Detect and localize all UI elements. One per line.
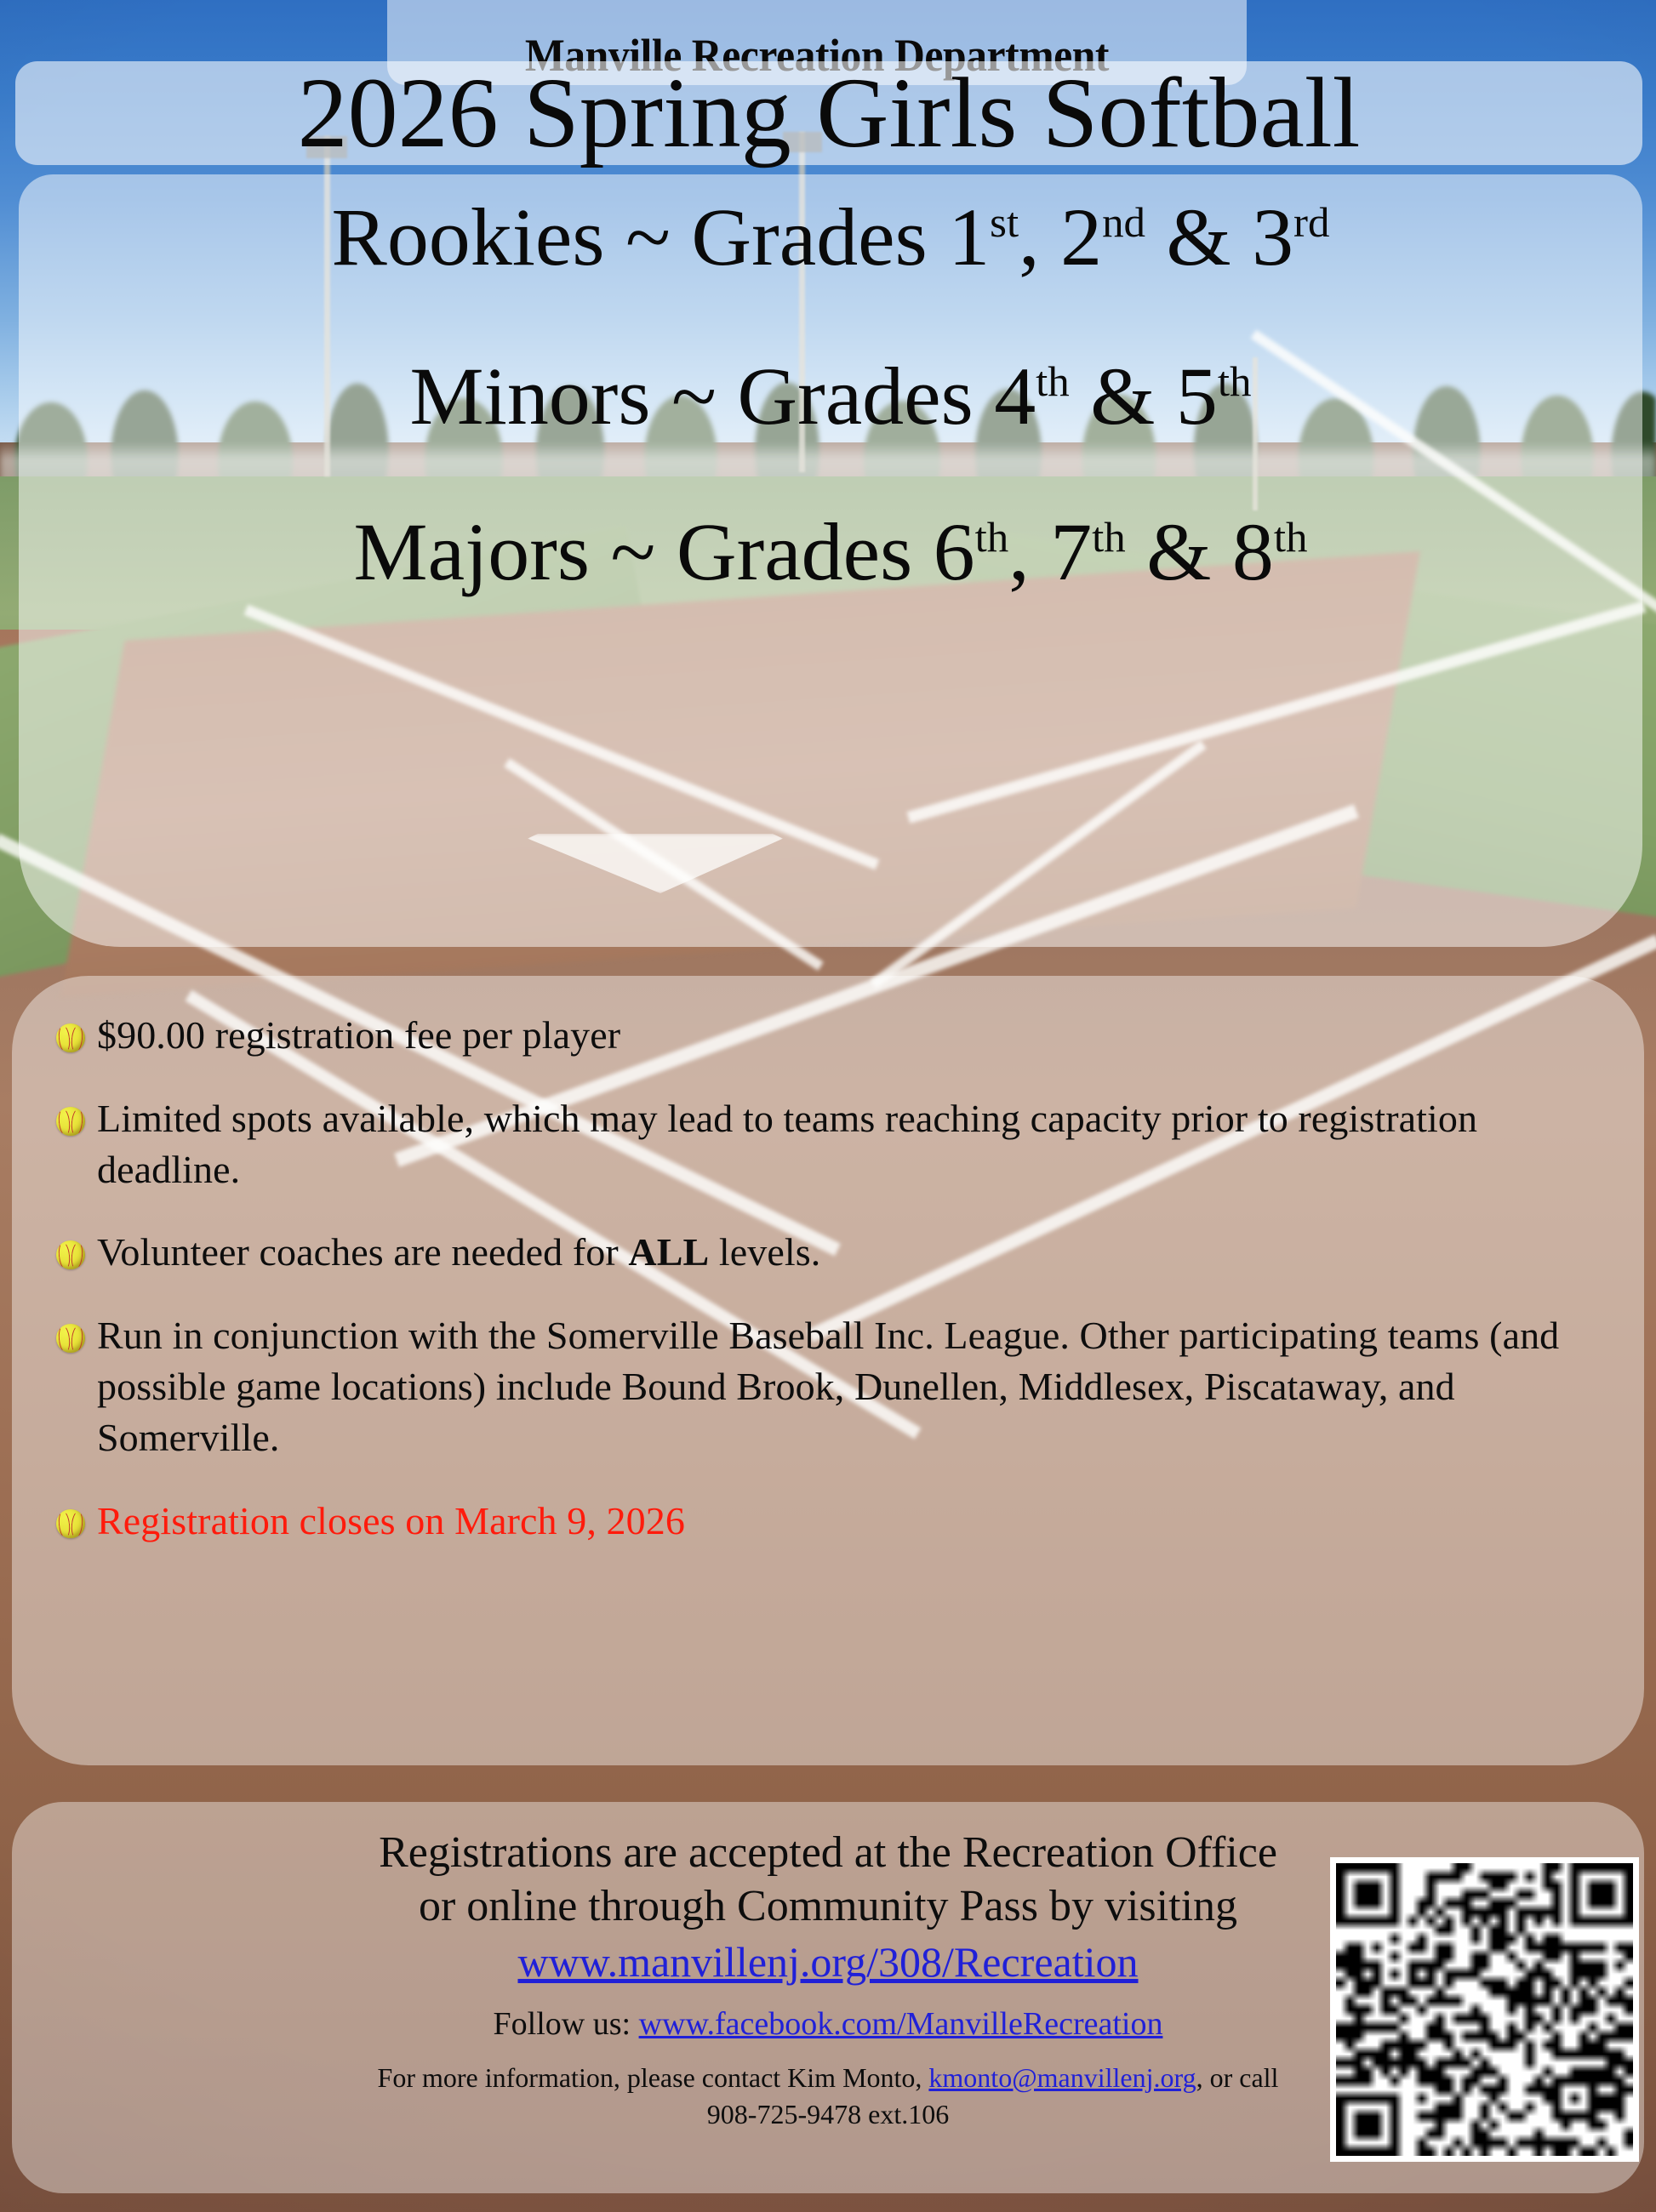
facebook-link[interactable]: www.facebook.com/ManvilleRecreation	[639, 2006, 1163, 2042]
detail-limited-spots: Limited spots available, which may lead …	[97, 1093, 1602, 1195]
softball-icon	[56, 1107, 85, 1136]
detail-registration-deadline: Registration closes on March 9, 2026	[97, 1496, 685, 1547]
detail-emphasis-all: ALL	[628, 1230, 709, 1274]
division-grade-2: 7th	[1050, 506, 1126, 597]
softball-icon	[56, 1509, 85, 1538]
division-grade-3: 8th	[1232, 506, 1308, 597]
detail-volunteer-coaches: Volunteer coaches are needed for ALL lev…	[97, 1227, 820, 1278]
detail-fee: $90.00 registration fee per player	[97, 1010, 620, 1061]
divisions-panel: Rookies ~ Grades 1st, 2nd & 3rd Minors ~…	[19, 174, 1642, 947]
division-grade-1: 6th	[934, 506, 1009, 597]
list-item: Volunteer coaches are needed for ALL lev…	[56, 1227, 1602, 1278]
division-grade-2: 2nd	[1060, 191, 1145, 282]
division-row-rookies: Rookies ~ Grades 1st, 2nd & 3rd	[3, 190, 1656, 284]
division-grade-2: 5th	[1176, 351, 1252, 442]
division-name-rookies: Rookies	[332, 191, 605, 282]
division-grade-1: 1st	[948, 191, 1019, 282]
details-list: $90.00 registration fee per player Limit…	[56, 1010, 1602, 1546]
division-row-majors: Majors ~ Grades 6th, 7th & 8th	[3, 505, 1656, 599]
list-item: Registration closes on March 9, 2026	[56, 1496, 1602, 1547]
title-banner: 2026 Spring Girls Softball	[15, 61, 1642, 165]
softball-icon	[56, 1023, 85, 1052]
qr-code[interactable]	[1330, 1857, 1639, 2162]
division-separator: ~	[625, 191, 671, 282]
details-panel: $90.00 registration fee per player Limit…	[12, 976, 1644, 1765]
division-grades-label: Grades	[677, 506, 912, 597]
list-item: $90.00 registration fee per player	[56, 1010, 1602, 1061]
flyer-page: Manville Recreation Department 2026 Spri…	[0, 0, 1656, 2212]
contact-text-after: , or call	[1196, 2062, 1279, 2093]
division-separator: ~	[610, 506, 655, 597]
division-grade-1: 4th	[994, 351, 1070, 442]
division-row-minors: Minors ~ Grades 4th & 5th	[3, 349, 1656, 443]
softball-icon	[56, 1240, 85, 1269]
list-item: Limited spots available, which may lead …	[56, 1093, 1602, 1195]
follow-us-label: Follow us:	[494, 2006, 639, 2042]
detail-league-partners: Run in conjunction with the Somerville B…	[97, 1310, 1602, 1462]
qr-code-canvas[interactable]	[1336, 1863, 1633, 2156]
list-item: Run in conjunction with the Somerville B…	[56, 1310, 1602, 1462]
contact-text-before: For more information, please contact Kim…	[378, 2062, 929, 2093]
division-name-minors: Minors	[410, 351, 651, 442]
division-grades-label: Grades	[737, 351, 973, 442]
division-grades-label: Grades	[691, 191, 927, 282]
softball-icon	[56, 1324, 85, 1353]
division-grade-3: 3rd	[1252, 191, 1329, 282]
page-title: 2026 Spring Girls Softball	[298, 63, 1361, 163]
contact-email-link[interactable]: kmonto@manvillenj.org	[928, 2062, 1196, 2093]
division-name-majors: Majors	[354, 506, 590, 597]
division-separator: ~	[671, 351, 717, 442]
